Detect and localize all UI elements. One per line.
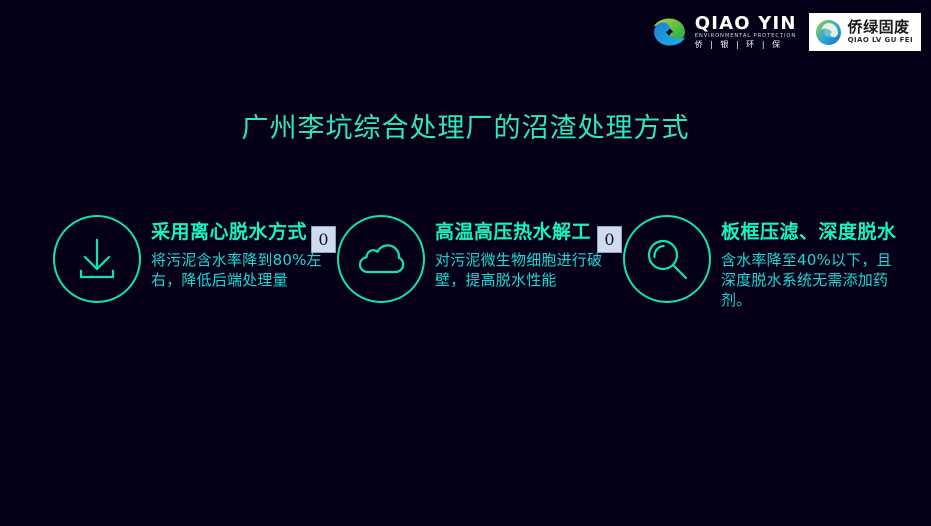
cloud-icon [337,215,425,303]
qiaolvgufei-logo-name: 侨绿固废 [848,20,913,35]
feature-column-1-body: 采用离心脱水方式 将污泥含水率降到80%左右，降低后端处理量 [151,212,328,290]
qiaoyin-logo: QIAO YIN ENVIRONMENTAL PROTECTION 侨 | 银 … [647,13,801,51]
qiaolvgufei-logo-text: 侨绿固废 QIAO LV GU FEI [848,20,913,44]
qiaoyin-logo-text: QIAO YIN ENVIRONMENTAL PROTECTION 侨 | 银 … [695,15,797,49]
overlay-badge-1[interactable]: 0 [311,226,336,253]
qiaolvgufei-logo-pinyin: QIAO LV GU FEI [848,37,913,44]
feature-column-2: 高温高压热水解工 对污泥微生物细胞进行破壁，提高脱水性能 [337,212,612,303]
overlay-badge-2[interactable]: 0 [597,226,622,253]
feature-heading-2: 高温高压热水解工 [435,222,612,244]
feature-text-2: 对污泥微生物细胞进行破壁，提高脱水性能 [435,250,613,291]
circle-swirl-icon [815,19,842,46]
qiaoyin-logo-name: QIAO YIN [695,15,797,33]
magnifier-icon [623,215,711,303]
page-title: 广州李坑综合处理厂的沼渣处理方式 [0,106,931,145]
logo-bar: QIAO YIN ENVIRONMENTAL PROTECTION 侨 | 银 … [647,13,921,51]
slide-canvas: QIAO YIN ENVIRONMENTAL PROTECTION 侨 | 银 … [0,0,931,526]
feature-text-3: 含水率降至40%以下，且深度脱水系统无需添加药剂。 [721,250,904,311]
download-arrow-icon [53,215,141,303]
feature-text-1: 将污泥含水率降到80%左右，降低后端处理量 [151,250,337,291]
swirl-leaf-icon [651,17,688,47]
feature-column-2-body: 高温高压热水解工 对污泥微生物细胞进行破壁，提高脱水性能 [435,212,612,290]
feature-heading-1: 采用离心脱水方式 [151,222,328,244]
feature-heading-3: 板框压滤、深度脱水 [721,222,904,244]
qiaoyin-logo-chinese: 侨 | 银 | 环 | 保 [695,41,797,49]
qiaolvgufei-logo: 侨绿固废 QIAO LV GU FEI [809,13,921,51]
feature-columns: 采用离心脱水方式 将污泥含水率降到80%左右，降低后端处理量 高温高压热水解工 … [0,212,931,362]
feature-column-1: 采用离心脱水方式 将污泥含水率降到80%左右，降低后端处理量 [53,212,328,303]
qiaoyin-logo-tagline: ENVIRONMENTAL PROTECTION [695,34,797,39]
feature-column-3-body: 板框压滤、深度脱水 含水率降至40%以下，且深度脱水系统无需添加药剂。 [721,212,904,311]
feature-column-3: 板框压滤、深度脱水 含水率降至40%以下，且深度脱水系统无需添加药剂。 [623,212,923,311]
